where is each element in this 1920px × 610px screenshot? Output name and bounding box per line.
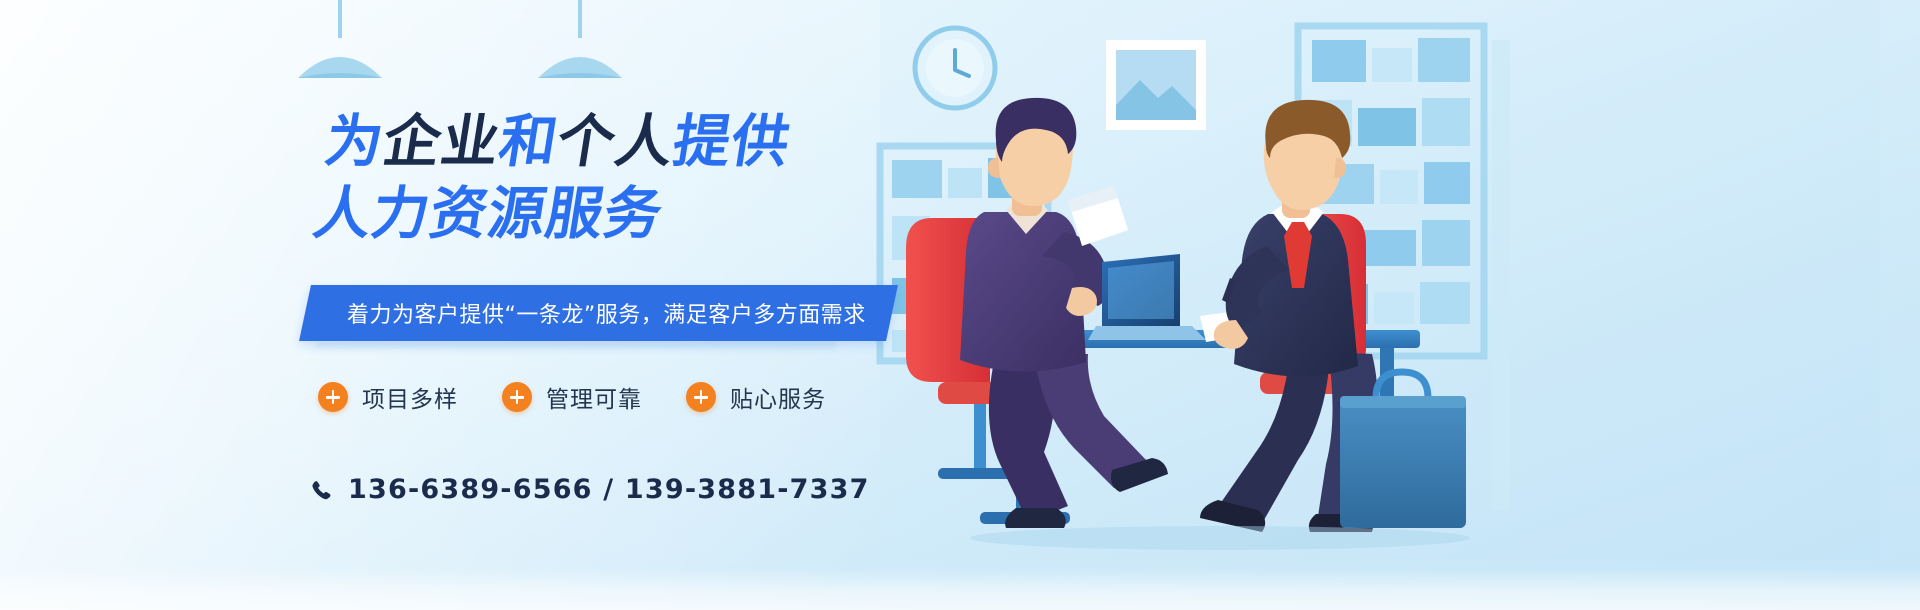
headline-seg-2: 企业 (378, 109, 504, 175)
feature-list: 项目多样 管理可靠 贴心服务 (318, 380, 826, 414)
headline-seg-3: 和 (494, 109, 562, 175)
feature-item-1[interactable]: 项目多样 (318, 380, 458, 414)
copy-block: 为企业和个人提供 人力资源服务 着力为客户提供“一条龙”服务，满足客户多方面需求… (0, 0, 900, 610)
phone-number: 136-6389-6566 / 139-3881-7337 (348, 474, 870, 505)
headline-seg-6: 人力资源服务 (309, 181, 667, 247)
page-title: 为企业和个人提供 人力资源服务 (309, 108, 891, 248)
headline-seg-1: 为 (320, 109, 388, 175)
feature-label-3: 贴心服务 (730, 380, 826, 414)
subtitle-bar-shadow (314, 341, 836, 351)
headline-seg-5: 提供 (668, 109, 794, 175)
framed-picture (1106, 40, 1206, 130)
feature-label-2: 管理可靠 (546, 380, 642, 414)
contact-phone[interactable]: 136-6389-6566 / 139-3881-7337 (310, 474, 870, 505)
illustration-two-businessmen (820, 0, 1920, 610)
plus-icon (686, 382, 716, 412)
phone-icon (310, 478, 332, 502)
headline-seg-4: 个人 (552, 109, 678, 175)
headline-line-2: 人力资源服务 (309, 180, 880, 248)
subtitle-bar: 着力为客户提供“一条龙”服务，满足客户多方面需求 (299, 285, 898, 341)
feature-item-3[interactable]: 贴心服务 (686, 380, 826, 414)
headline-line-1: 为企业和个人提供 (320, 108, 891, 176)
feature-label-1: 项目多样 (362, 380, 458, 414)
hr-service-banner: 为企业和个人提供 人力资源服务 着力为客户提供“一条龙”服务，满足客户多方面需求… (0, 0, 1920, 610)
feature-item-2[interactable]: 管理可靠 (502, 380, 642, 414)
plus-icon (502, 382, 532, 412)
subtitle-text: 着力为客户提供“一条龙”服务，满足客户多方面需求 (347, 297, 866, 329)
wall-clock (915, 28, 995, 108)
plus-icon (318, 382, 348, 412)
